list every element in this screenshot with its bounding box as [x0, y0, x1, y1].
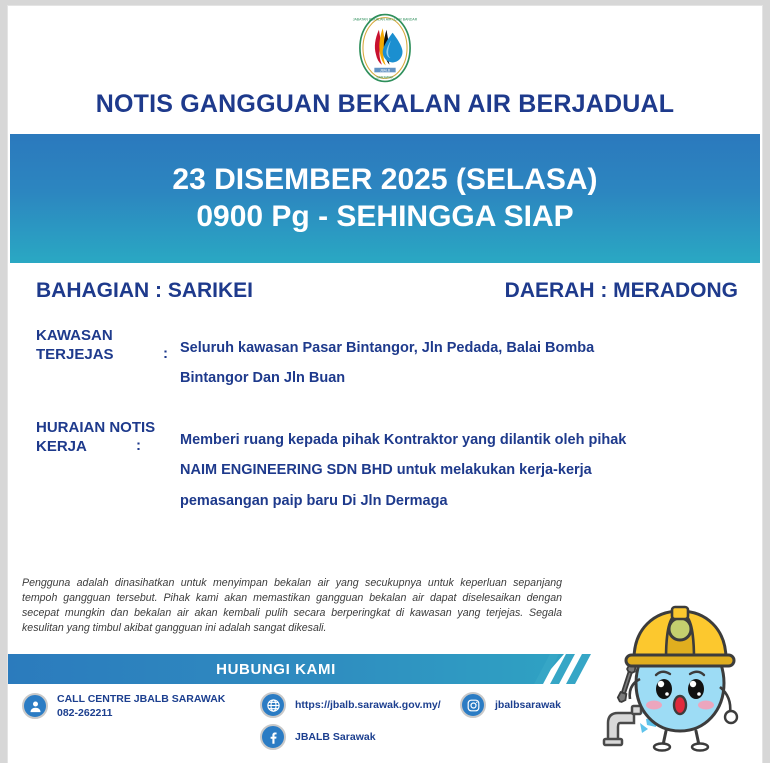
kawasan-terjejas-value: Seluruh kawasan Pasar Bintangor, Jln Ped… [180, 333, 650, 394]
contact-facebook-text: JBALB Sarawak [295, 730, 376, 744]
svg-text:JBALB: JBALB [380, 69, 391, 73]
contact-website-text: https://jbalb.sarawak.gov.my/ [295, 698, 441, 712]
notice-poster: JABATAN BEKALAN AIR LUAR BANDAR SARAWAK … [8, 6, 762, 763]
kawasan-colon: : [163, 345, 168, 362]
kawasan-terjejas-label: KAWASAN TERJEJAS [36, 327, 114, 365]
bahagian-label: BAHAGIAN : SARIKEI [36, 279, 253, 303]
contact-bar-title: HUBUNGI KAMI [8, 654, 564, 684]
contact-instagram-text: jbalbsarawak [495, 698, 561, 712]
svg-text:SARAWAK: SARAWAK [376, 75, 394, 79]
huraian-colon: : [136, 437, 141, 454]
division-row: BAHAGIAN : SARIKEI DAERAH : MERADONG [8, 263, 762, 319]
contact-call-centre-text: CALL CENTRE JBALB SARAWAK 082-262211 [57, 692, 225, 720]
contact-website[interactable]: https://jbalb.sarawak.gov.my/ [260, 692, 441, 718]
huraian-notis-kerja-value: Memberi ruang kepada pihak Kontraktor ya… [180, 425, 650, 516]
globe-icon [260, 692, 286, 718]
contact-call-centre[interactable]: CALL CENTRE JBALB SARAWAK 082-262211 [22, 692, 225, 720]
banner-time: 0900 Pg - SEHINGGA SIAP [196, 199, 573, 236]
detail-huraian-notis-kerja: HURAIAN NOTIS KERJA : Memberi ruang kepa… [8, 413, 762, 523]
contact-instagram[interactable]: jbalbsarawak [460, 692, 561, 718]
contact-facebook[interactable]: JBALB Sarawak [260, 724, 376, 750]
poster-header: JABATAN BEKALAN AIR LUAR BANDAR SARAWAK … [8, 6, 762, 134]
water-droplet-mascot [600, 563, 760, 763]
date-banner: 23 DISEMBER 2025 (SELASA) 0900 Pg - SEHI… [10, 134, 760, 263]
banner-date: 23 DISEMBER 2025 (SELASA) [172, 162, 597, 199]
facebook-icon [260, 724, 286, 750]
jbalb-logo: JABATAN BEKALAN AIR LUAR BANDAR SARAWAK … [347, 10, 423, 86]
svg-text:JABATAN BEKALAN AIR LUAR BANDA: JABATAN BEKALAN AIR LUAR BANDAR [353, 18, 418, 22]
instagram-icon [460, 692, 486, 718]
page-title: NOTIS GANGGUAN BEKALAN AIR BERJADUAL [8, 90, 762, 119]
detail-kawasan-terjejas: KAWASAN TERJEJAS : Seluruh kawasan Pasar… [8, 319, 762, 413]
advisory-note: Pengguna adalah dinasihatkan untuk menyi… [22, 576, 562, 636]
daerah-label: DAERAH : MERADONG [505, 279, 738, 303]
person-icon [22, 693, 48, 719]
